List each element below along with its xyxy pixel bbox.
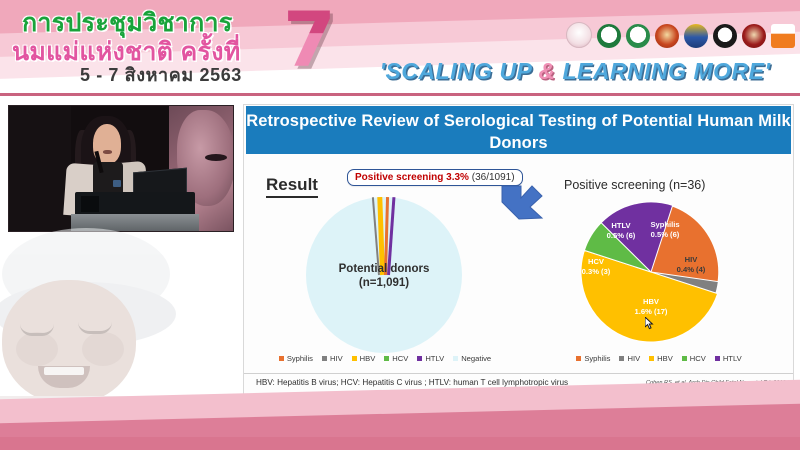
legend-item-htlv: HTLV [417, 354, 444, 363]
legend-item-hbv: HBV [352, 354, 376, 363]
legend-right-item-htlv: HTLV [715, 354, 742, 363]
edition-number: 7 [283, 4, 336, 76]
pie-slice-label-hbv: HBV 1.6% (17) [619, 297, 683, 316]
positive-screening-callout: Positive screening 3.3% (36/1091) [347, 169, 523, 186]
potential-donors-pie-chart [306, 197, 462, 353]
video-background-left [9, 106, 71, 231]
legend-right-label-4: HTLV [723, 354, 742, 363]
pie-slice-label-hiv: HIV 0.4% (4) [664, 255, 718, 274]
university-logo [742, 24, 766, 48]
pediatric-society-logo [655, 24, 679, 48]
pie-slice-label-syphilis-value: 0.5% (6) [651, 230, 680, 239]
slide-screenshot: การประชุมวิชาการ นมแม่แห่งชาติ ครั้งที่ … [0, 0, 800, 450]
legend-item-hcv: HCV [384, 354, 408, 363]
pie-left-label-line1: Potential donors [306, 263, 462, 275]
baby-teeth [44, 367, 84, 375]
pie-slice-label-hiv-value: 0.4% (4) [677, 265, 706, 274]
legend-right-item-syphilis: Syphilis [576, 354, 610, 363]
legend-right: Syphilis HIV HBV HCV HTLV [554, 354, 764, 363]
presenter-badge [113, 180, 121, 187]
pie-slice-label-syphilis-name: Syphilis [650, 220, 679, 229]
pie-left-label-line2: (n=1,091) [306, 277, 462, 289]
result-heading: Result [266, 175, 318, 198]
ministry-health-logo [597, 24, 621, 48]
tagline-part-1: 'SCALING UP [380, 58, 539, 84]
legend-left-label-5: Negative [461, 354, 491, 363]
pie-slice-label-hcv: HCV 0.3% (3) [571, 257, 621, 276]
presenter-video-panel[interactable] [8, 105, 234, 232]
tagline-ampersand: & [538, 58, 555, 84]
medical-council-logo [713, 24, 737, 48]
conference-header-banner: การประชุมวิชาการ นมแม่แห่งชาติ ครั้งที่ … [0, 0, 800, 96]
mouse-cursor-icon [645, 317, 654, 330]
legend-right-label-3: HCV [690, 354, 706, 363]
slide-title: Retrospective Review of Serological Test… [246, 106, 791, 154]
pie-slice-label-htlv-value: 0.5% (6) [607, 231, 636, 240]
footer-band-base [0, 437, 800, 450]
pie-slice-label-htlv: HTLV 0.5% (6) [594, 221, 648, 240]
podium-panel [81, 196, 99, 212]
sponsor-logos [566, 22, 795, 48]
baby-cheek-right [82, 332, 124, 366]
pie-slice-label-htlv-name: HTLV [611, 221, 630, 230]
baby-cheek-left [16, 332, 58, 366]
legend-right-item-hiv: HIV [619, 354, 640, 363]
nursing-council-logo [684, 24, 708, 48]
positive-screening-chart-title: Positive screening (n=36) [564, 178, 705, 192]
conference-tagline: 'SCALING UP & LEARNING MORE' [360, 58, 790, 85]
conference-date: 5 - 7 สิงหาคม 2563 [80, 60, 242, 89]
blue-arrow-icon [499, 178, 545, 224]
pie-slice-label-hiv-name: HIV [685, 255, 698, 264]
legend-right-item-hbv: HBV [649, 354, 673, 363]
pie-slice-label-hbv-name: HBV [643, 297, 659, 306]
thai-health-sss-logo [771, 24, 795, 48]
legend-item-syphilis: Syphilis [279, 354, 313, 363]
pie-slice-label-hcv-value: 0.3% (3) [582, 267, 611, 276]
callout-highlight: Positive screening 3.3% [355, 172, 469, 183]
legend-left-label-1: HIV [330, 354, 343, 363]
header-bottom-rule [0, 93, 800, 96]
baby-watermark-image [0, 228, 180, 418]
royal-emblem-logo [566, 22, 592, 48]
presentation-slide: Retrospective Review of Serological Test… [243, 104, 794, 406]
legend-left-label-4: HTLV [425, 354, 444, 363]
presenter-mouth [103, 150, 112, 154]
legend-left: Syphilis HIV HBV HCV HTLV Negative [272, 354, 498, 363]
legend-left-label-3: HCV [392, 354, 408, 363]
legend-item-hiv: HIV [322, 354, 343, 363]
legend-right-item-hcv: HCV [682, 354, 706, 363]
legend-left-label-0: Syphilis [287, 354, 313, 363]
pie-slice-label-hbv-value: 1.6% (17) [635, 307, 668, 316]
legend-item-negative: Negative [453, 354, 491, 363]
health-department-logo [626, 24, 650, 48]
legend-right-label-1: HIV [627, 354, 640, 363]
tagline-part-2: LEARNING MORE' [556, 58, 771, 84]
legend-right-label-2: HBV [657, 354, 673, 363]
slide-footer-divider [244, 373, 793, 374]
legend-left-label-2: HBV [360, 354, 376, 363]
legend-right-label-0: Syphilis [584, 354, 610, 363]
video-overlay-eye [205, 154, 227, 161]
pie-slice-label-hcv-name: HCV [588, 257, 604, 266]
